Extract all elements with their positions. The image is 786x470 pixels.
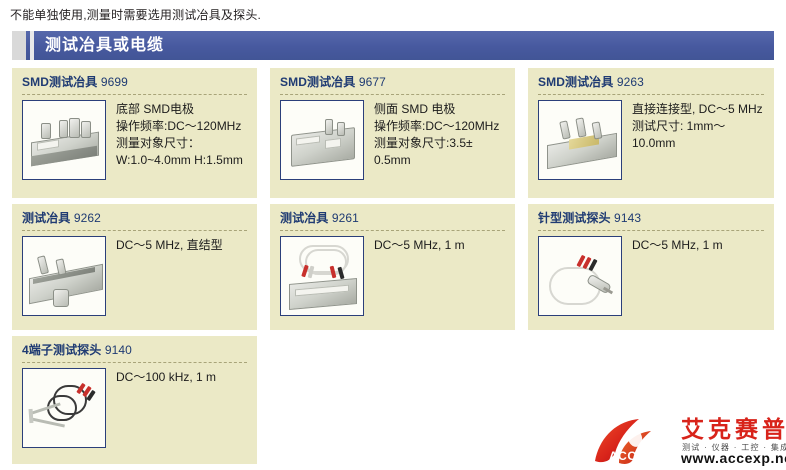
desc-line: 底部 SMD电极: [116, 101, 247, 118]
header-tab-accent: [12, 31, 26, 60]
product-row: 测试冶具 9262 DC～5 MHz, 直结型 测试冶具: [12, 204, 774, 330]
svg-text:ACCEXP: ACCEXP: [609, 449, 662, 463]
card-body: DC～5 MHz, 1 m: [280, 236, 505, 316]
product-model: 9699: [101, 75, 128, 89]
accexp-logo-icon: ACCEXP: [589, 417, 675, 465]
product-name: 4端子测试探头: [22, 343, 101, 357]
product-card-9263[interactable]: SMD测试冶具 9263 直接连接型, DC～5 MHz 测试尺寸: 1mm～ …: [528, 68, 774, 198]
fixture-post-2: [337, 122, 345, 136]
card-body: 底部 SMD电极 操作频率:DC～120MHz 测量对象尺寸： W:1.0~4.…: [22, 100, 247, 180]
product-model: 9261: [332, 211, 359, 225]
product-image-9140[interactable]: [22, 368, 106, 448]
section-header: 测试冶具或电缆: [12, 31, 774, 60]
product-grid: SMD测试冶具 9699 底部 SMD电极 操作频率:DC～120MHz: [12, 68, 774, 470]
product-description: 直接连接型, DC～5 MHz 测试尺寸: 1mm～ 10.0mm: [632, 100, 764, 152]
footer-brand-logo[interactable]: ACCEXP 艾克赛普 测试 · 仪器 · 工控 · 集成 www.accexp…: [589, 415, 779, 467]
product-model: 9677: [359, 75, 386, 89]
product-description: 侧面 SMD 电极 操作频率:DC～120MHz 测量对象尺寸:3.5± 0.5…: [374, 100, 505, 169]
desc-line: 测试尺寸: 1mm～: [632, 118, 764, 135]
product-model: 9263: [617, 75, 644, 89]
product-description: DC～100 kHz, 1 m: [116, 368, 247, 386]
product-image-9263[interactable]: [538, 100, 622, 180]
product-name: SMD测试冶具: [538, 75, 613, 89]
desc-line: 侧面 SMD 电极: [374, 101, 505, 118]
page-title: 测试冶具或电缆: [45, 35, 164, 57]
desc-line: 操作频率:DC～120MHz: [116, 118, 247, 135]
product-image-9699[interactable]: [22, 100, 106, 180]
product-name: SMD测试冶具: [22, 75, 97, 89]
card-body: 直接连接型, DC～5 MHz 测试尺寸: 1mm～ 10.0mm: [538, 100, 764, 180]
product-title: SMD测试冶具 9677: [280, 75, 505, 90]
card-divider: [538, 230, 764, 231]
product-card-9699[interactable]: SMD测试冶具 9699 底部 SMD电极 操作频率:DC～120MHz: [12, 68, 257, 198]
product-name: 测试冶具: [280, 211, 328, 225]
product-name: 针型测试探头: [538, 211, 611, 225]
desc-line: DC～100 kHz, 1 m: [116, 369, 247, 386]
product-image-9261[interactable]: [280, 236, 364, 316]
desc-line: 直接连接型, DC～5 MHz: [632, 101, 764, 118]
card-divider: [22, 230, 247, 231]
brand-website-url[interactable]: www.accexp.net: [681, 450, 786, 466]
card-body: 侧面 SMD 电极 操作频率:DC～120MHz 测量对象尺寸:3.5± 0.5…: [280, 100, 505, 180]
desc-line: 操作频率:DC～120MHz: [374, 118, 505, 135]
desc-line: 测量对象尺寸:3.5±: [374, 135, 505, 152]
header-divider-rule: [30, 31, 34, 60]
product-title: 针型测试探头 9143: [538, 211, 764, 226]
fixture-lever-1: [559, 120, 571, 139]
product-image-9262[interactable]: [22, 236, 106, 316]
desc-line: DC～5 MHz, 直结型: [116, 237, 247, 254]
product-name: SMD测试冶具: [280, 75, 355, 89]
product-image-9143[interactable]: [538, 236, 622, 316]
desc-line: 10.0mm: [632, 135, 764, 152]
product-description: DC～5 MHz, 直结型: [116, 236, 247, 254]
fixture-lever-3: [592, 121, 603, 139]
fixture-post-4: [81, 121, 91, 138]
product-card-9677[interactable]: SMD测试冶具 9677 侧面 SMD 电极 操作频率:DC～120MHz 测量…: [270, 68, 515, 198]
card-divider: [280, 230, 505, 231]
product-title: 测试冶具 9261: [280, 211, 505, 226]
desc-line: DC～5 MHz, 1 m: [632, 237, 764, 254]
product-description: DC～5 MHz, 1 m: [632, 236, 764, 254]
desc-line: W:1.0~4.0mm H:1.5mm: [116, 152, 247, 169]
intro-note: 不能单独使用,测量时需要选用测试冶具及探头.: [10, 6, 261, 23]
fixture-thumbwheel: [53, 289, 69, 307]
card-body: DC～5 MHz, 直结型: [22, 236, 247, 316]
product-card-9143[interactable]: 针型测试探头 9143 DC～5 MHz, 1 m: [528, 204, 774, 330]
fixture-post-1: [325, 119, 333, 135]
fixture-lever-1: [37, 255, 49, 274]
desc-line: DC～5 MHz, 1 m: [374, 237, 505, 254]
product-description: 底部 SMD电极 操作频率:DC～120MHz 测量对象尺寸： W:1.0~4.…: [116, 100, 247, 169]
product-row: SMD测试冶具 9699 底部 SMD电极 操作频率:DC～120MHz: [12, 68, 774, 198]
product-description: DC～5 MHz, 1 m: [374, 236, 505, 254]
card-divider: [22, 362, 247, 363]
brand-name-cn: 艾克赛普: [681, 416, 786, 442]
product-title: 4端子测试探头 9140: [22, 343, 247, 358]
product-title: 测试冶具 9262: [22, 211, 247, 226]
desc-line: 测量对象尺寸：: [116, 135, 247, 152]
card-body: DC～100 kHz, 1 m: [22, 368, 247, 448]
product-model: 9140: [105, 343, 132, 357]
product-model: 9143: [614, 211, 641, 225]
product-model: 9262: [74, 211, 101, 225]
product-title: SMD测试冶具 9699: [22, 75, 247, 90]
product-title: SMD测试冶具 9263: [538, 75, 764, 90]
product-card-9140[interactable]: 4端子测试探头 9140 DC～100 kHz, 1 m: [12, 336, 257, 464]
card-body: DC～5 MHz, 1 m: [538, 236, 764, 316]
desc-line: 0.5mm: [374, 152, 505, 169]
fixture-post-1: [41, 123, 51, 139]
product-image-9677[interactable]: [280, 100, 364, 180]
fixture-post-3: [69, 118, 80, 138]
card-divider: [280, 94, 505, 95]
card-divider: [22, 94, 247, 95]
fixture-body: [291, 127, 355, 167]
fixture-lever-2: [575, 117, 586, 137]
product-name: 测试冶具: [22, 211, 70, 225]
fixture-post-2: [59, 120, 68, 138]
product-card-9262[interactable]: 测试冶具 9262 DC～5 MHz, 直结型: [12, 204, 257, 330]
card-divider: [538, 94, 764, 95]
product-card-9261[interactable]: 测试冶具 9261 DC～5 MHz, 1 m: [270, 204, 515, 330]
